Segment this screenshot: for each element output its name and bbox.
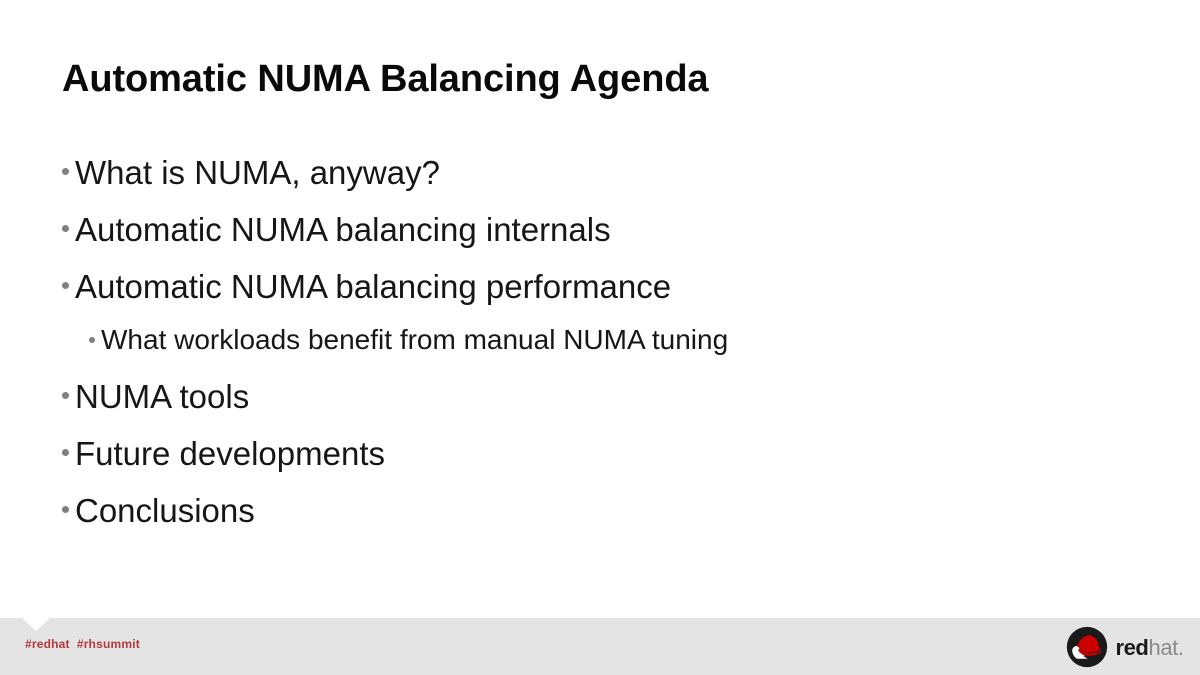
- redhat-logo: redhat.: [1066, 626, 1184, 668]
- list-item-label: Automatic NUMA balancing performance: [75, 266, 671, 303]
- list-item: Automatic NUMA balancing internals: [62, 209, 1122, 266]
- slide-footer: #redhat #rhsummit redhat.: [0, 618, 1200, 675]
- list-item-label: Conclusions: [75, 490, 255, 527]
- list-item-label: What is NUMA, anyway?: [75, 152, 440, 189]
- bullet-dot-icon: [62, 506, 69, 513]
- list-item: NUMA tools: [62, 376, 1122, 433]
- redhat-shadowman-icon: [1066, 626, 1108, 668]
- page-title: Automatic NUMA Balancing Agenda: [62, 58, 708, 101]
- redhat-wordmark: redhat.: [1115, 637, 1184, 659]
- list-item-label: Automatic NUMA balancing internals: [75, 209, 611, 246]
- footer-notch-decoration: [22, 618, 50, 631]
- list-item-label: Future developments: [75, 433, 385, 470]
- list-item: Future developments: [62, 433, 1122, 490]
- list-item: Conclusions: [62, 490, 1122, 547]
- bullet-dot-icon: [62, 449, 69, 456]
- wordmark-red: red: [1115, 635, 1148, 660]
- list-item-label: What workloads benefit from manual NUMA …: [101, 323, 728, 354]
- agenda-bullet-list: What is NUMA, anyway? Automatic NUMA bal…: [62, 152, 1122, 547]
- bullet-dot-icon: [62, 392, 69, 399]
- bullet-dot-icon: [62, 168, 69, 175]
- presentation-slide: Automatic NUMA Balancing Agenda What is …: [0, 0, 1200, 675]
- bullet-dot-icon: [62, 282, 69, 289]
- wordmark-hat: hat: [1148, 635, 1177, 660]
- bullet-dot-icon: [89, 337, 95, 343]
- list-item: Automatic NUMA balancing performance: [62, 266, 1122, 323]
- list-item-sub: What workloads benefit from manual NUMA …: [62, 323, 1122, 376]
- list-item: What is NUMA, anyway?: [62, 152, 1122, 209]
- footer-hashtags: #redhat #rhsummit: [25, 637, 140, 651]
- wordmark-dot: .: [1178, 635, 1184, 660]
- list-item-label: NUMA tools: [75, 376, 249, 413]
- bullet-dot-icon: [62, 225, 69, 232]
